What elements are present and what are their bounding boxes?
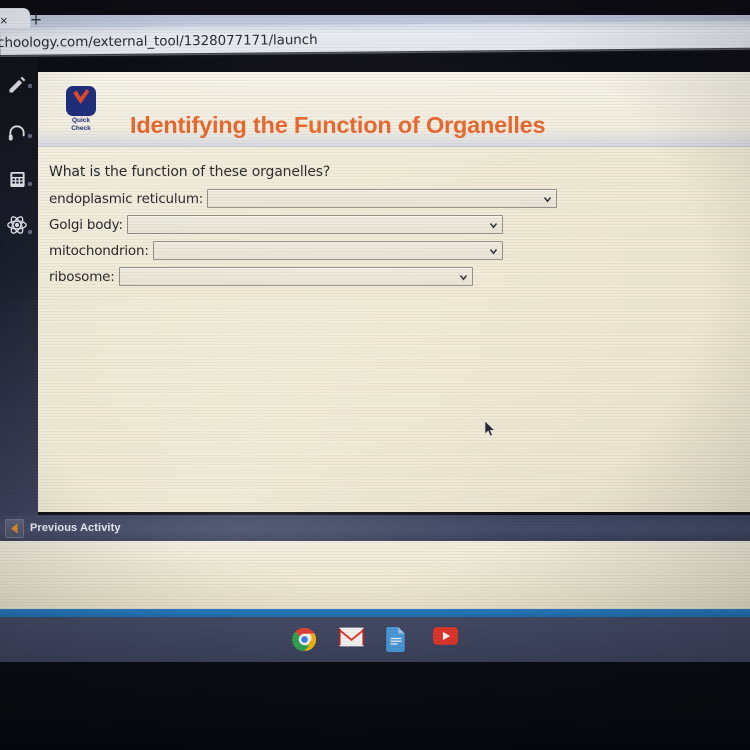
check-icon [71, 88, 92, 111]
headphones-icon[interactable] [2, 118, 32, 148]
select-ribosome[interactable] [119, 267, 473, 286]
url-text: choology.com/external_tool/1328077171/la… [0, 32, 318, 51]
schoology-page: Quick Check Identifying the Function of … [38, 72, 750, 512]
page-title: Identifying the Function of Organelles [130, 112, 545, 139]
page-footer-area [0, 541, 750, 611]
field-label: endoplasmic reticulum: [49, 191, 207, 207]
atom-icon[interactable] [2, 210, 32, 240]
previous-activity-bar: Previous Activity [0, 515, 750, 541]
field-label: ribosome: [49, 269, 119, 285]
laptop-bezel: hp [0, 662, 750, 750]
os-shelf [0, 617, 750, 662]
previous-activity-label[interactable]: Previous Activity [30, 522, 121, 534]
select-endoplasmic-reticulum[interactable] [207, 189, 557, 208]
mouse-cursor [484, 420, 496, 438]
badge-label-line1: Quick [62, 117, 100, 124]
field-row-mitochondrion: mitochondrion: [49, 241, 739, 260]
field-row-endoplasmic-reticulum: endoplasmic reticulum: [49, 189, 739, 208]
google-docs-icon[interactable] [386, 627, 411, 652]
chevron-down-icon [543, 194, 552, 203]
question-text: What is the function of these organelles… [49, 164, 739, 180]
select-mitochondrion[interactable] [153, 241, 503, 260]
activity-header: Quick Check Identifying the Function of … [38, 72, 750, 147]
arrow-left-icon [10, 523, 19, 534]
screen-photo: × + choology.com/external_tool/132807717… [0, 0, 750, 750]
youtube-icon[interactable] [433, 627, 458, 652]
select-golgi-body[interactable] [127, 215, 503, 234]
question-body: What is the function of these organelles… [49, 164, 739, 293]
quick-check-badge: Quick Check [62, 86, 100, 130]
previous-activity-button[interactable] [5, 519, 24, 538]
accent-line [0, 609, 750, 617]
chevron-down-icon [459, 272, 468, 281]
calculator-icon[interactable] [2, 164, 32, 194]
chevron-down-icon [489, 220, 498, 229]
tool-rail [0, 58, 38, 515]
field-row-golgi-body: Golgi body: [49, 215, 739, 234]
close-icon[interactable]: × [0, 14, 8, 27]
badge-label-line2: Check [62, 125, 100, 132]
field-row-ribosome: ribosome: [49, 267, 739, 286]
field-label: Golgi body: [49, 217, 127, 233]
badge-square [66, 86, 96, 116]
field-label: mitochondrion: [49, 243, 153, 259]
chevron-down-icon [489, 246, 498, 255]
chrome-icon[interactable] [292, 627, 317, 652]
gmail-icon[interactable] [339, 627, 364, 652]
